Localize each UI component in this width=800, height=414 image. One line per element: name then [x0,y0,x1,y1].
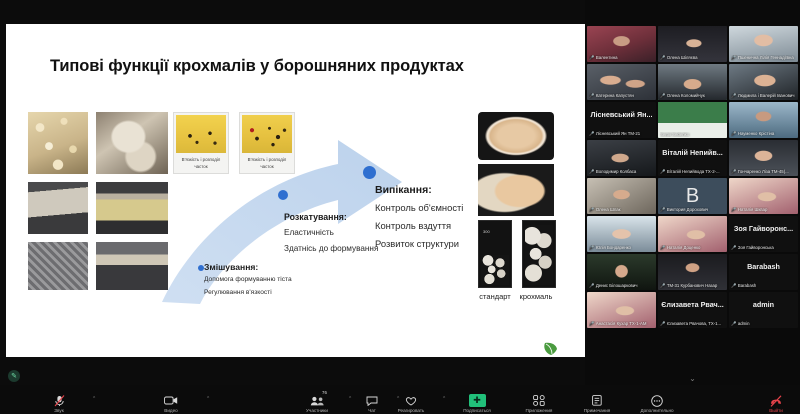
participant-tile-grid: 🎤Валентина🎤Олена Шіляєва🎤Пшенична Лілія … [585,26,800,330]
leave-meeting-button[interactable]: Выйти [756,394,796,413]
participant-name-label: 🎤Пшенична Лілія Геннадіївна [731,55,796,61]
participants-count-badge: 76 [322,390,327,395]
mic-muted-icon: 🎤 [589,55,594,60]
stage-mixing-title: Змішування: [204,262,292,272]
mic-muted-icon: 🎤 [731,283,736,288]
participant-tile[interactable]: 🎤Олена Шпак [587,178,656,214]
mic-muted-icon: 🎤 [589,321,594,326]
participant-name-label: 🎤Гончаренко Ліза ТМ-45(... [731,169,796,175]
stage-dot-icon [363,166,376,179]
mic-muted-icon [30,394,88,407]
participant-tile[interactable]: 🎤Науменко Крістіна [729,102,798,138]
participant-display-name: Barabash [729,262,798,271]
mic-muted-icon: 🎤 [660,321,665,326]
apps-button[interactable]: Приложения [510,394,568,413]
dumplings-standard [481,255,509,285]
stage-rolling: Розкатування: Еластичність Здатнісь до ф… [284,212,378,254]
notes-button[interactable]: Примечания [568,394,626,413]
participant-name-label: 🎤Наталія Доценко [660,245,725,251]
ingredion-logo: Ingredion Be what's next. [522,340,580,357]
participant-name-label: 🎤Науменко Крістіна [731,131,796,137]
page-title: Типові функції крохмалів у борошняних пр… [50,57,464,76]
mic-muted-icon: 🎤 [660,245,665,250]
mic-muted-icon: 🎤 [731,207,736,212]
mic-muted-icon: 🎤 [589,245,594,250]
participant-name-label: 🎤Лісневський Ян ТМ-21 [589,131,654,137]
participant-name-label: 🎤Barabash [731,283,796,289]
stage-dot-icon [198,265,204,271]
participant-display-name: Єлизавета Рвач... [658,300,727,309]
photo-dough-cutter [28,242,88,290]
participant-tile[interactable]: Barabash🎤Barabash [729,254,798,290]
participant-name-text: Олена Шпак [596,207,621,212]
participant-display-name: Віталій Непийв... [658,148,727,157]
mic-muted-icon: 🎤 [731,131,736,136]
participant-tile[interactable]: admin🎤admin [729,292,798,328]
participant-name-text: Людмила і Валерій Іванович [738,93,795,98]
video-button[interactable]: Видео [142,394,200,413]
participant-tile[interactable]: 🎤Людмила і Валерій Іванович [729,64,798,100]
participant-name-label: 🎤Зоя Гайворонська [731,245,796,251]
participant-row: 🎤Юлія Бондаренко🎤Наталія ДоценкоЗоя Гайв… [585,216,800,254]
stage-dot-icon [278,190,288,200]
mic-muted-icon: 🎤 [660,169,665,174]
stage-baking-item-3: Розвиток структури [375,238,463,250]
participant-tile[interactable]: 🎤Валентина [587,26,656,62]
presentation-slide[interactable]: Типові функції крохмалів у борошняних пр… [6,24,585,357]
participant-name-text: Наталія Шквар [738,207,768,212]
mic-muted-icon: 🎤 [731,245,736,250]
zoom-toolbar[interactable]: Звук ⌃ Видео ⌃ Участники [0,385,800,414]
subscribe-label: Подписаться [448,408,506,413]
cylinder-tick-label: 300 [483,229,490,234]
subscribe-button[interactable]: ✚ Подписаться [448,394,506,413]
participant-name-text: Анастасія Кухар ТХ-1-АМ [596,321,647,326]
camera-icon [142,394,200,407]
cylinder-label-standard: стандарт [473,292,517,301]
participant-tile[interactable]: Лісневський Ян...🎤Лісневський Ян ТМ-21 [587,102,656,138]
photo-cylinder-starch [522,220,556,288]
participant-name-label: 🎤Олена Шпак [589,207,654,213]
participant-name-label: 🎤Наталія Шквар [731,207,796,213]
panel-scroll-down-icon[interactable]: ⌄ [585,374,800,383]
annotation-badge-icon[interactable]: ✎ [8,370,20,382]
participant-name-label: 🎤Олена Шіляєва [660,55,725,61]
participant-row: 🎤Олена ШпакВ🎤Виктория Дорохович🎤Наталія … [585,178,800,216]
participant-tile[interactable]: Зоя Гайворонс...🎤Зоя Гайворонська [729,216,798,252]
stage-baking-title: Випікання: [375,184,463,196]
reactions-label: Реагировать [382,408,440,413]
stage-rolling-item-2: Здатнісь до формування [284,243,378,254]
mic-muted-icon: 🎤 [660,55,665,60]
plus-icon: ✚ [469,394,486,407]
participant-name-text: Єлизавета Рвачова, ТХ-1... [667,321,721,326]
participant-tile[interactable]: 🎤Катерина Капустян [587,64,656,100]
participants-icon [288,394,346,407]
participant-row: 🎤Володимир КолбасаВіталій Непийв...🎤Віта… [585,140,800,178]
participant-name-label: 🎤Катерина Капустян [589,93,654,99]
participant-display-name: Зоя Гайворонс... [729,224,798,233]
participant-name-label: 🎤Юлія Бондаренко [589,245,654,251]
mic-muted-icon: 🎤 [589,93,594,98]
cylinder-label-starch: крохмаль [514,292,558,301]
participant-tile[interactable]: Віталій Непийв...🎤Віталій Непийвода ТХ-2… [658,140,727,176]
participant-name-text: admin [738,321,750,326]
participant-name-label: 🎤ТМ-31 Курбанович Назар [660,283,725,289]
participant-row: 🎤Валентина🎤Олена Шіляєва🎤Пшенична Лілія … [585,26,800,64]
reactions-button[interactable]: Реагировать [382,394,440,413]
heart-icon [382,394,440,407]
participant-name-text: Виктория Дорохович [667,207,708,212]
notes-icon [568,394,626,407]
stage-baking: Випікання: Контроль об'ємності Контроль … [375,184,463,251]
participant-name-text: ТМ-31 Курбанович Назар [667,283,717,288]
stage-baking-item-1: Контроль об'ємності [375,202,463,214]
participant-name-text: Валентина [596,55,618,60]
participant-name-text: Олена Шіляєва [667,55,698,60]
participant-tile[interactable]: 🎤Олена Шіляєва [658,26,727,62]
participant-name-label: 🎤Віталій Непийвода ТХ-2-... [660,169,725,175]
participant-name-text: Науменко Крістіна [738,131,774,136]
mic-muted-icon: 🎤 [660,93,665,98]
participant-tile[interactable]: 🎤Юлія Бондаренко [587,216,656,252]
participant-tile[interactable]: 🎤Наталія Шквар [729,178,798,214]
mic-muted-icon: 🎤 [731,169,736,174]
participant-tile[interactable]: 🎤ТМ-31 Курбанович Назар [658,254,727,290]
ingredion-wordmark: Ingredion [522,356,580,357]
apps-icon [510,394,568,407]
participant-tile[interactable]: Sergii Sedenko [658,102,727,138]
participant-name-text: Лісневський Ян ТМ-21 [596,131,640,136]
zoom-meeting-window: Типові функції крохмалів у борошняних пр… [0,0,800,414]
leave-label: Выйти [756,408,796,413]
mic-muted-icon: 🎤 [589,169,594,174]
mic-muted-icon: 🎤 [589,207,594,212]
shared-screen-area[interactable]: Типові функції крохмалів у борошняних пр… [0,0,585,385]
participant-name-text: Barabash [738,283,756,288]
more-icon [628,394,686,407]
participant-name-label: 🎤Володимир Колбаса [589,169,654,175]
participant-tile[interactable]: 🎤Наталія Доценко [658,216,727,252]
participant-name-text: Денис Білошаркович [596,283,638,288]
participant-name-text: Катерина Капустян [596,93,634,98]
participant-name-label: 🎤Валентина [589,55,654,61]
participant-tile[interactable]: В🎤Виктория Дорохович [658,178,727,214]
mic-muted-icon: 🎤 [660,283,665,288]
stage-rolling-title: Розкатування: [284,212,378,222]
participant-name-text: Олена Коломийчук [667,93,705,98]
participant-tile[interactable]: 🎤Пшенична Лілія Геннадіївна [729,26,798,62]
stage-rolling-item-1: Еластичність [284,227,378,238]
more-button[interactable]: Дополнительно [628,394,686,413]
mic-muted-icon: 🎤 [731,321,736,326]
participant-name-label: 🎤Виктория Дорохович [660,207,725,213]
participant-tile[interactable]: 🎤Володимир Колбаса [587,140,656,176]
photo-bread-cross-section-2 [478,164,554,216]
photo-dough-sheeting-1 [28,182,88,234]
participant-display-name: Лісневський Ян... [587,110,656,119]
participant-name-label: 🎤Єлизавета Рвачова, ТХ-1... [660,321,725,327]
mic-muted-icon: 🎤 [731,55,736,60]
video-options-caret-icon[interactable]: ⌃ [206,396,210,402]
stage-mixing: Змішування: Допомога формуванню тіста Ре… [204,262,292,297]
participant-tile[interactable]: 🎤Гончаренко Ліза ТМ-45(... [729,140,798,176]
mic-muted-icon: 🎤 [589,283,594,288]
participant-name-text: Зоя Гайворонська [738,245,774,250]
participant-name-label: 🎤Людмила і Валерій Іванович [731,93,796,99]
participant-row: Лісневський Ян...🎤Лісневський Ян ТМ-21Se… [585,102,800,140]
stage-baking-item-2: Контроль вздуття [375,220,463,232]
participant-name-text: Володимир Колбаса [596,169,636,174]
participant-row: 🎤Денис Білошаркович🎤ТМ-31 Курбанович Наз… [585,254,800,292]
photo-dough-crumb [28,112,88,174]
notes-label: Примечания [568,408,626,413]
audio-options-caret-icon[interactable]: ⌃ [92,396,96,402]
audio-label: Звук [30,408,88,413]
participant-display-name: admin [729,300,798,309]
mic-muted-icon: 🎤 [660,207,665,212]
participant-name-label: 🎤Денис Білошаркович [589,283,654,289]
participant-tile[interactable]: Єлизавета Рвач...🎤Єлизавета Рвачова, ТХ-… [658,292,727,328]
participant-name-label: 🎤admin [731,321,796,327]
participant-video-panel[interactable]: 🎤Валентина🎤Олена Шіляєва🎤Пшенична Лілія … [585,0,800,385]
dumplings-starch [525,225,553,285]
participant-name-text: Sergii Sedenko [660,132,689,137]
participant-name-label: Sergii Sedenko [660,132,725,137]
participant-tile[interactable]: 🎤Денис Білошаркович [587,254,656,290]
participant-name-text: Гончаренко Ліза ТМ-45(... [738,169,789,174]
participant-row: 🎤Катерина Капустян🎤Олена Коломийчук🎤Людм… [585,64,800,102]
participant-name-text: Наталія Доценко [667,245,701,250]
ingredion-leaf-icon [522,340,580,356]
participant-name-text: Пшенична Лілія Геннадіївна [738,55,794,60]
stage-mixing-item-1: Допомога формуванню тіста [204,276,292,285]
participant-name-label: 🎤Анастасія Кухар ТХ-1-АМ [589,321,654,327]
apps-label: Приложения [510,408,568,413]
reactions-options-caret-icon[interactable]: ⌃ [442,396,446,402]
video-label: Видео [142,408,200,413]
participant-name-label: 🎤Олена Коломийчук [660,93,725,99]
participant-tile[interactable]: 🎤Олена Коломийчук [658,64,727,100]
participant-name-text: Віталій Непийвода ТХ-2-... [667,169,720,174]
participant-row: 🎤Анастасія Кухар ТХ-1-АМЄлизавета Рвач..… [585,292,800,330]
photo-cylinder-standard: 300 [478,220,512,288]
mic-muted-icon: 🎤 [589,131,594,136]
participant-tile[interactable]: 🎤Анастасія Кухар ТХ-1-АМ [587,292,656,328]
leave-icon [756,394,796,407]
participants-label: Участники [288,408,346,413]
participant-name-text: Юлія Бондаренко [596,245,631,250]
audio-button[interactable]: Звук [30,394,88,413]
more-label: Дополнительно [628,408,686,413]
photo-bread-cross-section-1 [478,112,554,160]
mic-muted-icon: 🎤 [731,93,736,98]
stage-mixing-item-2: Регулювання в'язкості [204,289,292,298]
participants-button[interactable]: Участники [288,394,346,413]
